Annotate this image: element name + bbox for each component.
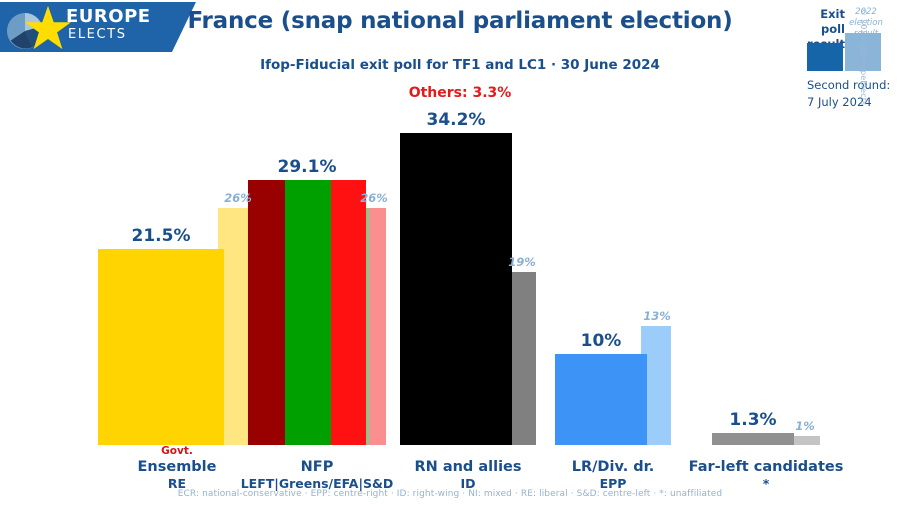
others-annotation: Others: 3.3% — [180, 85, 740, 101]
govt-tag-spacer — [656, 445, 876, 458]
value-label-2022: 26% — [350, 191, 398, 205]
x-label-far-left-candidates: Far-left candidates* — [656, 445, 876, 492]
value-label-2022: 13% — [631, 309, 683, 323]
bar-exitpoll-far-left-candidates — [712, 433, 794, 445]
copyright-text: © 2024 @EuropeElects — [859, 8, 868, 98]
value-label-2022: 26% — [208, 191, 268, 205]
x-axis-labels: Govt.EnsembleRE NFPLEFT|Greens/EFA|S&D R… — [0, 445, 900, 490]
bar-segment-ni — [712, 433, 794, 445]
europe-elects-logo: EUROPE ELECTS — [0, 0, 196, 54]
bar-segment-s&d — [331, 180, 366, 445]
legend-swatch-exit-poll — [807, 43, 843, 71]
logo-text: EUROPE ELECTS — [66, 7, 186, 43]
bar-exitpoll-ensemble — [98, 249, 224, 445]
value-label-2022: 1% — [778, 419, 832, 433]
value-label-2022: 19% — [496, 255, 548, 269]
bar-segment-sd-2022 — [369, 208, 386, 445]
chart-canvas: EUROPE ELECTS France (snap national parl… — [0, 0, 900, 506]
bar-exitpoll-nfp — [248, 180, 366, 445]
bar-segment-re — [98, 249, 224, 445]
value-label-exitpoll: 10% — [555, 331, 647, 351]
bar-exitpoll-rn-and-allies — [400, 133, 512, 445]
value-label-exitpoll: 21.5% — [98, 226, 224, 246]
party-name: Far-left candidates — [656, 458, 876, 476]
bars-plot-area: 21.5%26%29.1%26%34.2%19%10%13%1.3%1% — [0, 100, 900, 445]
party-family-footnote: ECR: national-conservative · EPP: centre… — [0, 489, 900, 499]
bar-segment-epp — [555, 354, 647, 445]
chart-subtitle: Ifop-Fiducial exit poll for TF1 and LC1 … — [180, 57, 740, 73]
logo-line-2: ELECTS — [66, 27, 186, 43]
second-round-line-1: Second round: — [807, 77, 897, 94]
europe-elects-star-icon — [24, 4, 72, 52]
value-label-exitpoll: 29.1% — [248, 157, 366, 177]
bar-exitpoll-lr-div-dr — [555, 354, 647, 445]
value-label-exitpoll: 34.2% — [400, 110, 512, 130]
bar-segment-greens-efa — [285, 180, 331, 445]
chart-title: France (snap national parliament electio… — [180, 8, 740, 34]
logo-line-1: EUROPE — [66, 7, 186, 27]
bar-segment-id — [400, 133, 512, 445]
bar-segment-left — [248, 180, 285, 445]
